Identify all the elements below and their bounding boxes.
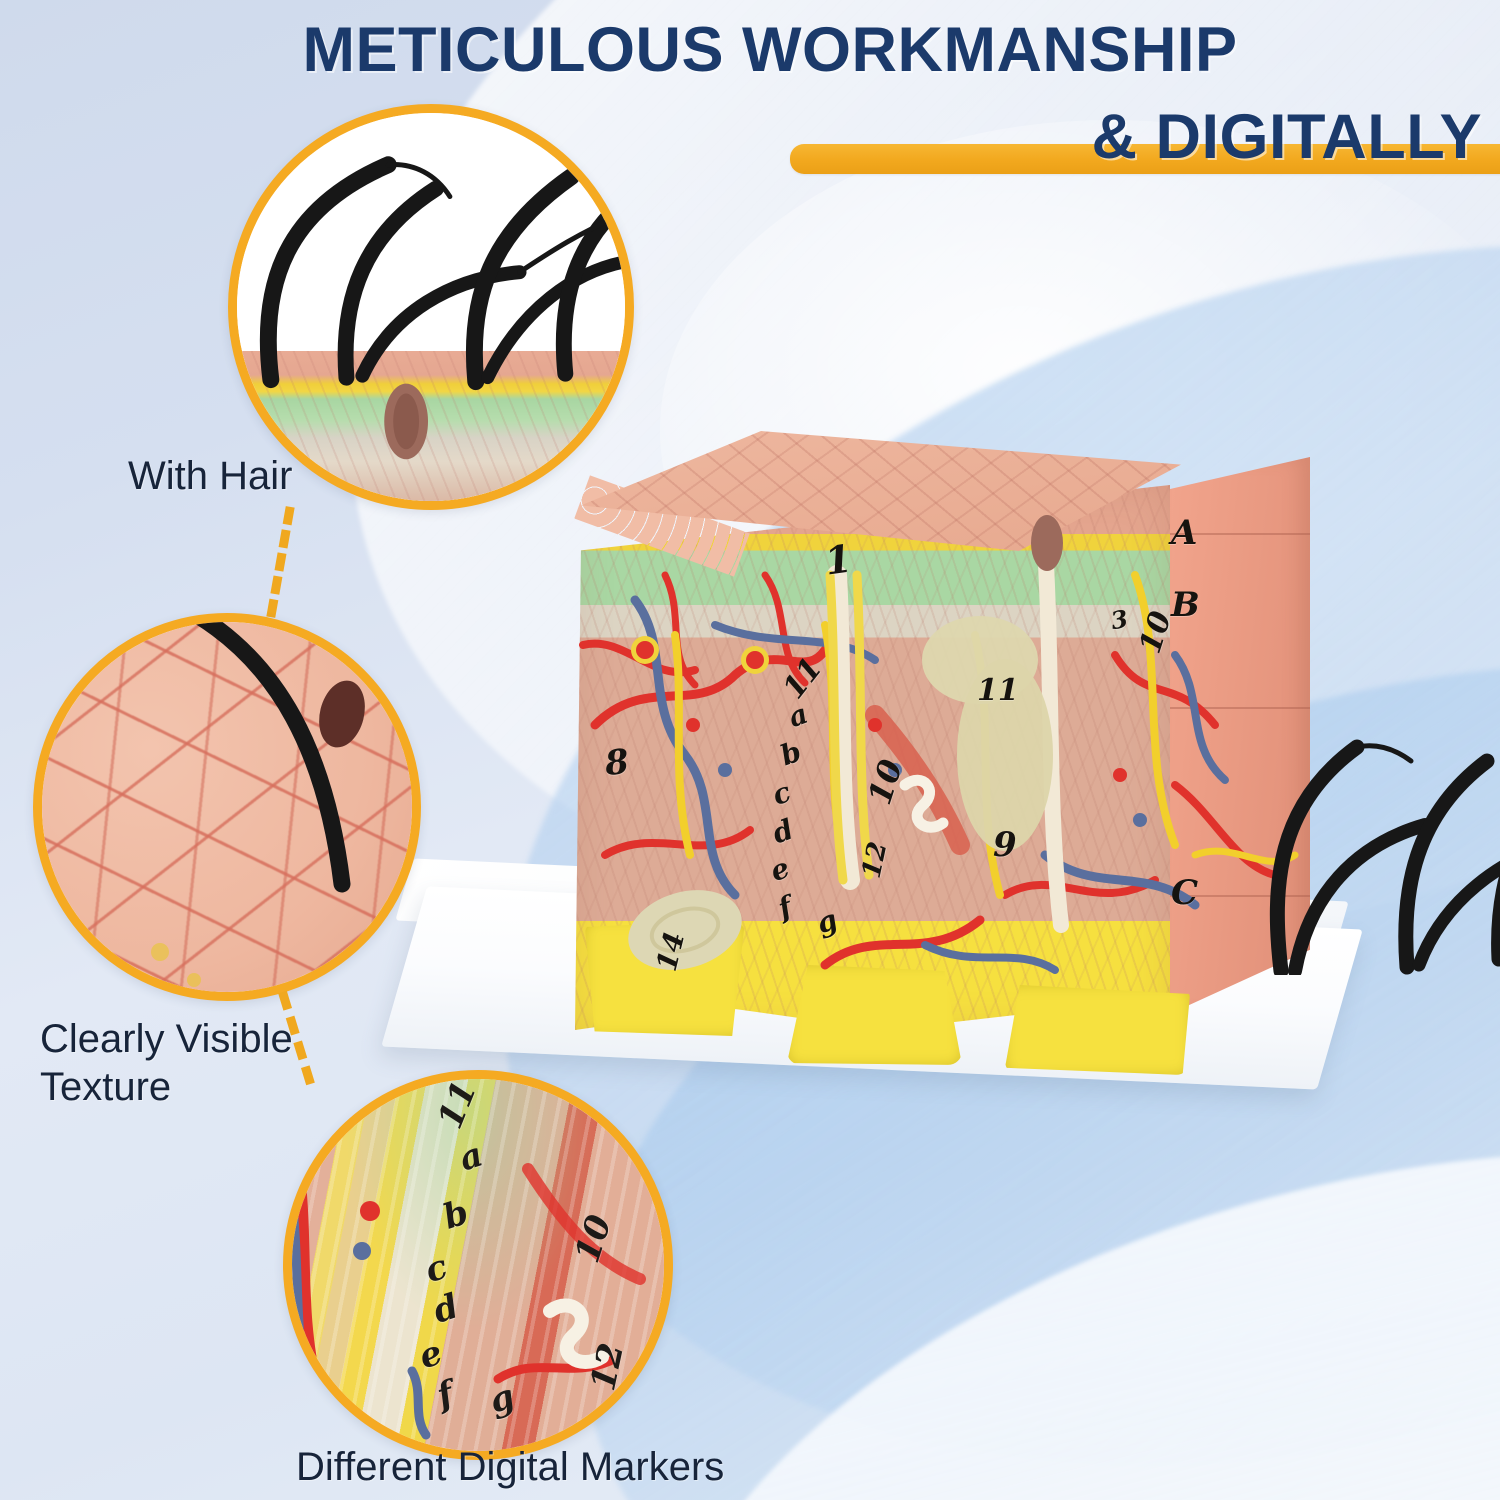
poster-canvas: METICULOUS WORKMANSHIP & DIGITALLY (0, 0, 1500, 1500)
feature-circle-texture (33, 613, 421, 1001)
marker-f: f (432, 1374, 458, 1417)
hair-fibers-closeup (237, 113, 625, 501)
caption-with-hair: With Hair (128, 452, 292, 500)
marker-B: B (1171, 585, 1200, 625)
marker-g: g (484, 1376, 519, 1421)
marker-11b: 11 (977, 673, 1019, 708)
marker-a: a (454, 1135, 487, 1180)
marker-12: 12 (583, 1340, 632, 1395)
marker-e: e (414, 1333, 447, 1378)
marker-8: 8 (603, 742, 631, 784)
feature-circle-markers: 11 a b c d e f g 10 12 (283, 1070, 673, 1460)
caption-texture: Clearly Visible Texture (40, 1015, 293, 1111)
marker-9: 9 (993, 825, 1017, 865)
marker-A: A (1171, 513, 1197, 553)
hair-strand-texture (42, 622, 412, 992)
skin-model: 1 8 11 a b c d e f g 10 12 3 14 9 11 10 … (575, 425, 1310, 1035)
digital-marker-group: 11 a b c d e f g 10 12 (292, 1079, 664, 1451)
caption-markers: Different Digital Markers (296, 1443, 724, 1491)
marker-d: d (428, 1286, 463, 1331)
marker-c: c (420, 1247, 452, 1291)
marker-11: 11 (430, 1076, 485, 1135)
feature-circle-with-hair (228, 104, 634, 510)
marker-10: 10 (567, 1210, 620, 1267)
marker-b: b (438, 1192, 473, 1237)
hair-fibers-model (1095, 675, 1500, 975)
